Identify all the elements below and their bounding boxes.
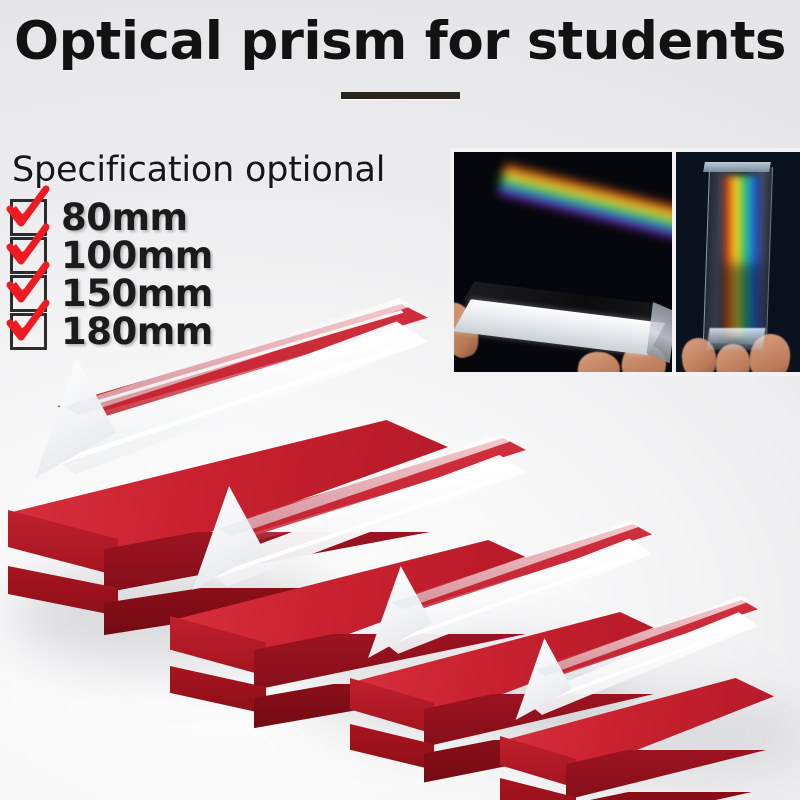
- specification-heading: Specification optional: [12, 150, 408, 190]
- prism-top-bevel: [703, 162, 771, 172]
- box-base-front: [170, 666, 266, 714]
- box-base-front: [350, 724, 434, 770]
- spec-label-80mm: 80mm: [61, 199, 188, 236]
- page-title: Optical prism for students: [0, 14, 800, 70]
- product-group: [0, 250, 800, 800]
- checkbox-80mm[interactable]: [10, 199, 47, 236]
- product-unit-80mm: [500, 580, 800, 800]
- title-underline-rule: [341, 92, 460, 99]
- checkmark-icon: [8, 190, 50, 230]
- page-title-text: Optical prism for students: [0, 14, 800, 70]
- spec-option-80mm[interactable]: 80mm: [8, 198, 408, 236]
- rainbow-spectrum-band: [498, 162, 672, 246]
- product-poster: Optical prism for students Specification…: [0, 0, 800, 800]
- box-base-side: [566, 792, 752, 800]
- box-base-front: [8, 566, 118, 616]
